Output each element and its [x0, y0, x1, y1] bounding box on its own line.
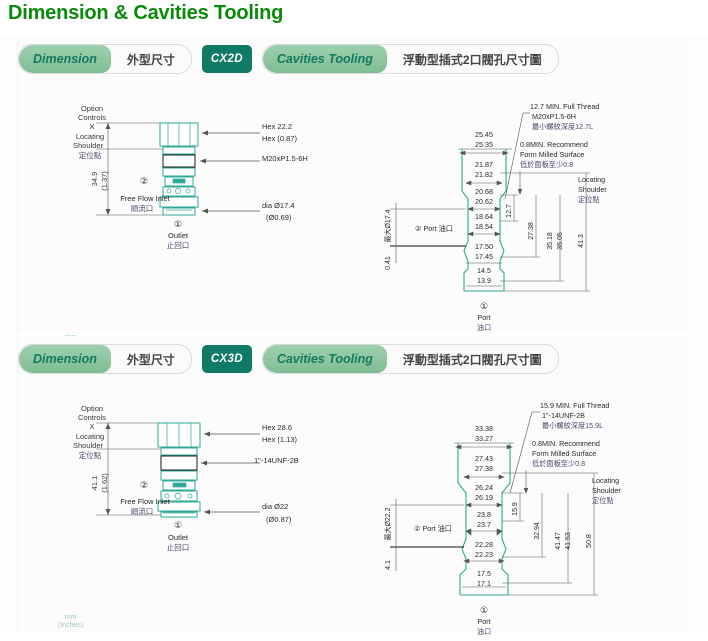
thread-note-2-cx2d: M20xP1.5-6H [532, 112, 576, 121]
dimension-svg-cx3d: Option Controls X Locating Shoulder 定位點 … [30, 391, 330, 631]
overall-length-in-cx3d: (1.62) [100, 473, 109, 493]
port2-cn-cx3d: 順流口 [131, 506, 154, 516]
dim-d5-min-cx2d: 17.45 [475, 252, 493, 261]
dim-d3-max-cx3d: 26.24 [475, 483, 493, 492]
dim-d2-min-cx3d: 27.38 [475, 464, 493, 473]
model-badge-cx3d[interactable]: CX3D [202, 345, 252, 373]
label-locating-cx3d: Locating [76, 432, 104, 441]
dim-depth-total-cx2d: 41.3 [578, 234, 585, 248]
dim-depth-total-cx3d: 50.8 [586, 534, 593, 548]
tabbar-cx2d: Dimension 外型尺寸 CX2D Cavities Tooling 浮動型… [18, 44, 559, 74]
dim-thread-depth-cx3d: 15.9 [512, 502, 519, 516]
callout-dia-mm-cx3d: dia Ø22 [262, 502, 288, 511]
label-x: X [89, 122, 94, 131]
page-title: Dimension & Cavities Tooling [8, 2, 283, 25]
cavity-drawing-cx3d: 15.9 MIN. Full Thread 1"-14UNF-2B 最小螺紋深度… [380, 391, 700, 641]
surface-note-2-cx2d: Form Milled Surface [520, 150, 584, 159]
dim-d6-min-cx3d: 17.1 [477, 579, 491, 588]
surface-note-3-cx3d: 低於面板至少0.8 [532, 459, 585, 468]
panel-cx3d: Dimension 外型尺寸 CX3D Cavities Tooling 浮動型… [0, 336, 708, 632]
port1-cn-cx2d: 止回口 [167, 240, 190, 250]
port2-dia-cx2d: 最大Ø17.4 [383, 209, 392, 242]
dim-d4-min-cx3d: 23.7 [477, 520, 491, 529]
unit-note-cx3d: mm (Inches) [58, 614, 83, 630]
overall-length-mm-cx2d: 34.9 [90, 172, 99, 187]
dim-thread-depth-cx2d: 12.7 [506, 204, 513, 218]
surface-note-2-cx3d: Form Milled Surface [532, 449, 596, 458]
thread-note-1-cx3d: 15.9 MIN. Full Thread [540, 401, 609, 410]
dim-d2-max-cx3d: 27.43 [475, 454, 493, 463]
dim-d6-max-cx3d: 17.5 [477, 569, 491, 578]
surface-note-3-cx2d: 低於面板至少0.8 [520, 160, 573, 169]
port1-en-cavity-cx3d: Port [477, 617, 490, 626]
port1-mark-cx2d: ① [174, 219, 182, 229]
overall-length-mm-cx3d: 41.1 [90, 476, 99, 491]
thread-note-1-cx2d: 12.7 MIN. Full Thread [530, 102, 599, 111]
tab-dimension-en-cx3d[interactable]: Dimension [19, 345, 111, 373]
dim-depth-c-min-cx2d: 35.05 [557, 232, 564, 250]
callout-thread-cx3d: 1"-14UNF-2B [254, 456, 299, 465]
callout-dia-in-cx2d: (Ø0.69) [266, 213, 292, 222]
dim-d4-max-cx3d: 23.8 [477, 510, 491, 519]
dim-d2-max-cx2d: 21.87 [475, 160, 493, 169]
dim-d3-max-cx2d: 20.68 [475, 187, 493, 196]
tabgroup-dimension-cx2d[interactable]: Dimension 外型尺寸 [18, 44, 192, 74]
cavity-svg-cx3d: 15.9 MIN. Full Thread 1"-14UNF-2B 最小螺紋深度… [380, 391, 700, 641]
dim-depth-c-max-cx3d: 41.47 [555, 532, 562, 550]
cavity-svg-cx2d: 12.7 MIN. Full Thread M20xP1.5-6H 最小螺紋深度… [380, 91, 700, 341]
label-shoulder-cx3d: Shoulder [73, 441, 104, 450]
port2-en-cx3d: Free Flow Inlet [120, 497, 171, 506]
panel-cx2d: Dimension 外型尺寸 CX2D Cavities Tooling 浮動型… [0, 36, 708, 334]
unit-note-mm-cx3d: mm [58, 614, 83, 622]
dim-depth-c-min-cx3d: 41.53 [565, 532, 572, 550]
model-badge-cx2d[interactable]: CX2D [202, 45, 252, 73]
port1-mark-cavity-cx3d: ① [480, 605, 488, 615]
dim-top-max-cx2d: 25.45 [475, 130, 493, 139]
dimension-drawing-cx2d: Option Controls X Locating Shoulder 定位點 … [30, 91, 330, 331]
callout-hex-in-cx3d: Hex (1.13) [262, 435, 298, 444]
port1-en-cx2d: Outlet [168, 231, 189, 240]
tab-cavities-en-cx3d[interactable]: Cavities Tooling [263, 345, 387, 373]
tab-cavities-cn-cx3d[interactable]: 浮動型插式2口閥孔尺寸圖 [387, 345, 558, 373]
dim-d5-min-cx3d: 22.23 [475, 550, 493, 559]
dim-d6-max-cx2d: 14.5 [477, 266, 491, 275]
dim-d5-max-cx2d: 17.50 [475, 242, 493, 251]
dim-depth-c-max-cx2d: 35.18 [547, 232, 554, 250]
label-controls-cx3d: Controls [78, 413, 106, 422]
port2-offset-cx2d: 0.41 [385, 256, 392, 270]
dim-d3-min-cx3d: 26.19 [475, 493, 493, 502]
dim-top-max-cx3d: 33.38 [475, 424, 493, 433]
tab-cavities-cn-cx2d[interactable]: 浮動型插式2口閥孔尺寸圖 [387, 45, 558, 73]
tabgroup-cavities-cx2d[interactable]: Cavities Tooling 浮動型插式2口閥孔尺寸圖 [262, 44, 559, 74]
label-option-cx3d: Option [81, 404, 103, 413]
tab-dimension-cn-cx2d[interactable]: 外型尺寸 [111, 45, 191, 73]
locating-en2-cx3d: Shoulder [592, 486, 621, 495]
callout-dia-in-cx3d: (Ø0.87) [266, 515, 292, 524]
port1-mark-cx3d: ① [174, 520, 182, 530]
thread-note-2-cx3d: 1"-14UNF-2B [542, 411, 585, 420]
dim-top-min-cx3d: 33.27 [475, 434, 493, 443]
dim-d5-max-cx3d: 22.28 [475, 540, 493, 549]
label-controls: Controls [78, 113, 106, 122]
callout-dia-mm-cx2d: dia Ø17.4 [262, 201, 295, 210]
callout-hex-mm-cx2d: Hex 22.2 [262, 122, 292, 131]
callout-hex-in-cx2d: Hex (0.87) [262, 134, 298, 143]
port2-cn-cx2d: 順流口 [131, 203, 154, 213]
label-locating: Locating [76, 132, 104, 141]
port2-label-cx2d: ② Port 油口 [415, 224, 453, 233]
tabgroup-cavities-cx3d[interactable]: Cavities Tooling 浮動型插式2口閥孔尺寸圖 [262, 344, 559, 374]
callout-thread-cx2d: M20xP1.5-6H [262, 154, 308, 163]
surface-note-1-cx2d: 0.8MIN. Recommend [520, 140, 588, 149]
callout-hex-mm-cx3d: Hex 28.6 [262, 423, 292, 432]
thread-note-3-cx3d: 最小螺紋深度15.9L [542, 421, 603, 430]
label-locating-cn: 定位點 [79, 150, 102, 160]
dim-depth-b-cx2d: 27.38 [528, 222, 535, 240]
unit-note-in-cx3d: (Inches) [58, 622, 83, 630]
dim-d4-max-cx2d: 18.64 [475, 212, 493, 221]
locating-cn-cx3d: 定位點 [592, 496, 614, 505]
label-locating-cn-cx3d: 定位點 [79, 450, 102, 460]
port2-mark-cx3d: ② [140, 480, 148, 490]
dim-d2-min-cx2d: 21.82 [475, 170, 493, 179]
locating-en1-cx2d: Locating [578, 175, 605, 184]
port2-en-cx2d: Free Flow Inlet [120, 194, 171, 203]
locating-en2-cx2d: Shoulder [578, 185, 607, 194]
label-shoulder: Shoulder [73, 141, 104, 150]
port2-offset-cx3d: 4.1 [385, 560, 392, 570]
port1-cn-cx3d: 止回口 [167, 542, 190, 552]
port2-dia-cx3d: 最大Ø22.2 [383, 507, 392, 540]
dimension-drawing-cx3d: Option Controls X Locating Shoulder 定位點 … [30, 391, 330, 631]
dim-top-min-cx2d: 25.35 [475, 140, 493, 149]
surface-note-1-cx3d: 0.8MIN. Recommend [532, 439, 600, 448]
dim-d3-min-cx2d: 20.62 [475, 197, 493, 206]
tabgroup-dimension-cx3d[interactable]: Dimension 外型尺寸 [18, 344, 192, 374]
dimension-svg-cx2d: Option Controls X Locating Shoulder 定位點 … [30, 91, 330, 331]
port1-en-cavity-cx2d: Port [477, 313, 490, 322]
port1-en-cx3d: Outlet [168, 533, 189, 542]
dim-depth-b-cx3d: 32.94 [534, 522, 541, 540]
port2-label-cx3d: ② Port 油口 [414, 524, 452, 533]
label-x-cx3d: X [89, 422, 94, 431]
dim-d4-min-cx2d: 18.54 [475, 222, 493, 231]
locating-cn-cx2d: 定位點 [578, 195, 600, 204]
port1-mark-cavity-cx2d: ① [480, 301, 488, 311]
port1-cn-cavity-cx2d: 油口 [477, 323, 491, 332]
dim-d6-min-cx2d: 13.9 [477, 276, 491, 285]
overall-length-in-cx2d: (1.37) [100, 171, 109, 191]
tabbar-cx3d: Dimension 外型尺寸 CX3D Cavities Tooling 浮動型… [18, 344, 559, 374]
port2-mark-cx2d: ② [140, 176, 148, 186]
label-option: Option [81, 104, 103, 113]
tab-dimension-en-cx2d[interactable]: Dimension [19, 45, 111, 73]
tab-cavities-en-cx2d[interactable]: Cavities Tooling [263, 45, 387, 73]
thread-note-3-cx2d: 最小螺紋深度12.7L [532, 122, 593, 131]
cavity-drawing-cx2d: 12.7 MIN. Full Thread M20xP1.5-6H 最小螺紋深度… [380, 91, 700, 341]
locating-en1-cx3d: Locating [592, 476, 619, 485]
tab-dimension-cn-cx3d[interactable]: 外型尺寸 [111, 345, 191, 373]
